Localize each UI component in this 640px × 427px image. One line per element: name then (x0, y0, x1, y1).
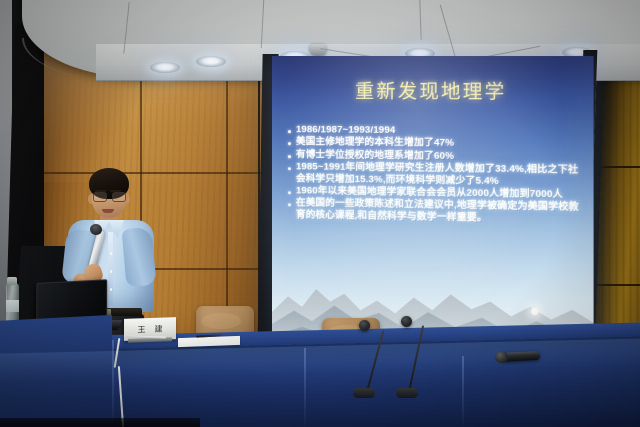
slide-bullet-text: 在美国的一些政策陈述和立法建议中,地理学被确定为美国学校教育的核心课程,和自然科… (296, 198, 581, 226)
ceiling-downlight-2 (196, 56, 226, 67)
table-drape-fold-2 (304, 348, 306, 427)
name-card-char-1: 王 (138, 324, 146, 335)
gooseneck-capsule-icon (401, 316, 412, 327)
gooseneck-base (353, 388, 375, 398)
shirt-button-3 (110, 288, 113, 291)
water-bottle-cap (7, 277, 17, 285)
gooseneck-capsule-icon (359, 320, 370, 331)
ceiling-downlight-1 (150, 62, 180, 73)
foreground-shadow (0, 418, 200, 427)
speaker-brow-right (110, 190, 121, 192)
slide-title: 重新发现地理学 (272, 82, 594, 105)
slide-bullet-item: 1985~1991年间地理学研究生注册人数增加了33.4%,相比之下社会科学只增… (288, 161, 581, 188)
slide-bullet-text: 美国主修地理学的本科生增加了47% (296, 137, 454, 150)
slide-bullet-list: 1986/1987~1993/1994 美国主修地理学的本科生增加了47% 有博… (288, 124, 581, 227)
bullet-dot-icon (288, 143, 291, 146)
bullet-dot-icon (288, 130, 291, 133)
shirt-button-1 (110, 252, 113, 255)
bullet-dot-icon (288, 155, 291, 158)
slide-bullet-text: 1985~1991年间地理学研究生注册人数增加了33.4%,相比之下社会科学只增… (296, 161, 581, 188)
gooseneck-base (396, 388, 418, 398)
gooseneck-stem (366, 330, 385, 392)
name-card-char-2: 建 (155, 323, 163, 334)
bullet-dot-icon (288, 167, 291, 170)
shirt-button-2 (110, 270, 113, 273)
slide-bullet-text: 有博士学位授权的地理系增加了60% (296, 149, 454, 162)
conference-table-left-return (0, 315, 112, 427)
water-bottle-label (6, 300, 19, 312)
gooseneck-microphone-1 (352, 318, 392, 394)
lecture-hall-photo: 重新发现地理学 1986/1987~1993/1994 美国主修地理学的本科生增… (0, 0, 640, 427)
table-drape-fold-3 (462, 356, 464, 427)
slide-bullet-text: 1986/1987~1993/1994 (296, 124, 395, 136)
table-drape-fold-1 (112, 340, 114, 427)
projection-screen: 重新发现地理学 1986/1987~1993/1994 美国主修地理学的本科生增… (272, 56, 594, 362)
bullet-dot-icon (288, 191, 291, 194)
slide-sun-highlight (531, 308, 538, 315)
eyeglasses-icon (93, 192, 125, 200)
speaker-shirt-placket (108, 232, 113, 306)
smoke-detector-icon (310, 44, 326, 56)
slide-bullet-item: 在美国的一些政策陈述和立法建议中,地理学被确定为美国学校教育的核心课程,和自然科… (288, 198, 581, 226)
gooseneck-microphone-2 (392, 314, 432, 394)
bullet-dot-icon (288, 204, 291, 207)
wood-seam-right-1 (601, 166, 640, 168)
wood-seam-right-2 (597, 284, 640, 286)
speaker-brow-left (95, 190, 106, 192)
gooseneck-stem (408, 325, 424, 392)
